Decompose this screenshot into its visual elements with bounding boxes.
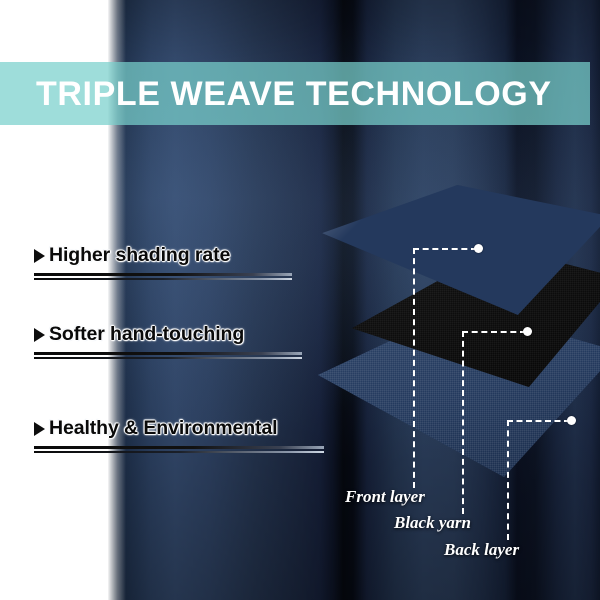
feature-underline: [34, 446, 324, 453]
callout-3-horizontal: [507, 420, 570, 422]
underline-bar-bottom: [34, 357, 302, 359]
callout-2-dot: [523, 327, 532, 336]
feature-underline: [34, 273, 292, 280]
callout-3-dot: [567, 416, 576, 425]
feature-item-2: Softer hand-touching: [34, 323, 302, 359]
underline-bar-top: [34, 273, 292, 276]
callout-2-horizontal: [462, 331, 526, 333]
feature-label: Softer hand-touching: [49, 323, 244, 346]
underline-bar-bottom: [34, 451, 324, 453]
diagram-label-back-layer: Back layer: [444, 540, 519, 560]
feature-item-3: Healthy & Environmental: [34, 417, 324, 453]
triangle-right-icon: [34, 328, 45, 342]
callout-1-horizontal: [413, 248, 477, 250]
diagram-label-front-layer: Front layer: [345, 487, 425, 507]
diagram-label-black-yarn: Black yarn: [394, 513, 471, 533]
triangle-right-icon: [34, 249, 45, 263]
feature-item-1: Higher shading rate: [34, 244, 292, 280]
underline-bar-bottom: [34, 278, 292, 280]
product-feature-graphic: TRIPLE WEAVE TECHNOLOGY Higher shading r…: [0, 0, 600, 600]
underline-bar-top: [34, 352, 302, 355]
underline-bar-top: [34, 446, 324, 449]
banner-title: TRIPLE WEAVE TECHNOLOGY: [36, 70, 590, 118]
feature-label: Healthy & Environmental: [49, 417, 278, 440]
triangle-right-icon: [34, 422, 45, 436]
callout-2-vertical: [462, 331, 464, 514]
feature-label: Higher shading rate: [49, 244, 230, 267]
feature-underline: [34, 352, 302, 359]
callout-3-vertical: [507, 420, 509, 540]
callout-1-dot: [474, 244, 483, 253]
callout-1-vertical: [413, 248, 415, 488]
fabric-layer-diagram: [330, 185, 600, 505]
